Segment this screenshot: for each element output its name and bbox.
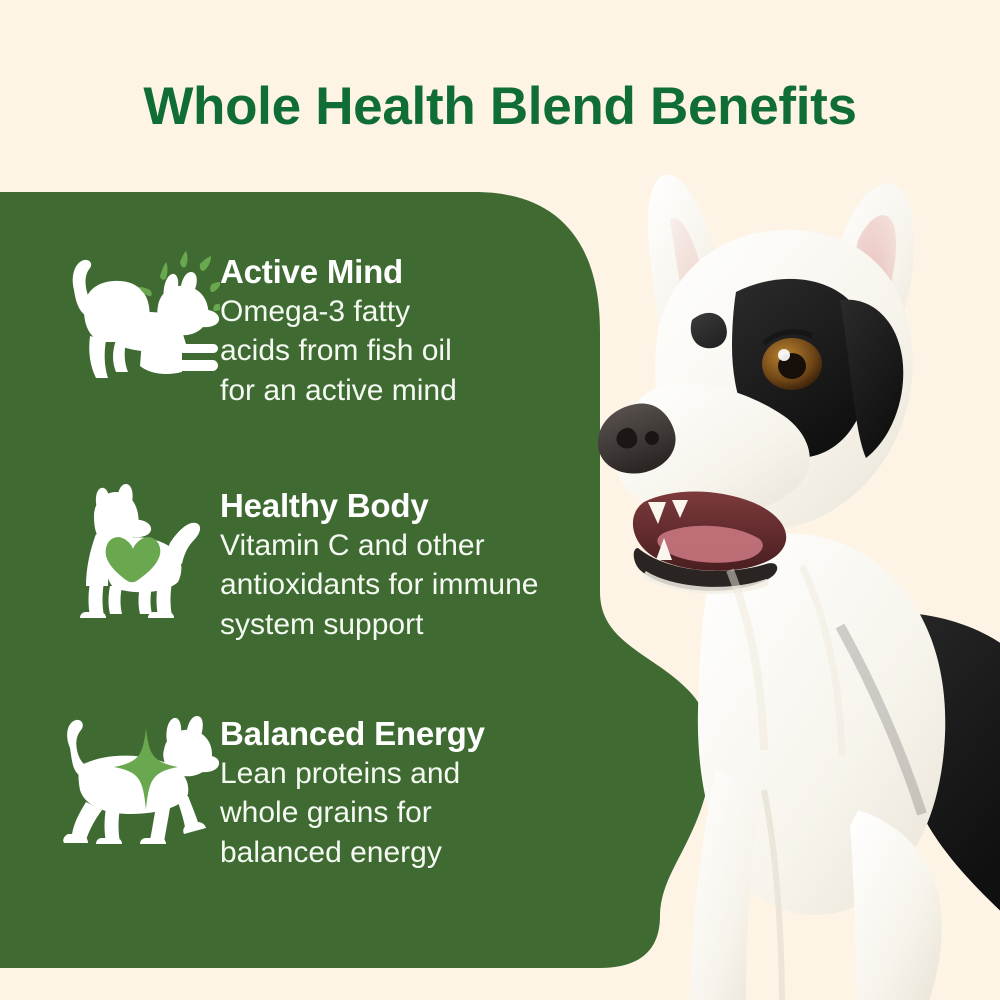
benefit-body-line: for an active mind <box>220 371 457 411</box>
benefit-body: Vitamin C and other antioxidants for imm… <box>220 526 539 645</box>
benefit-body: Lean proteins and whole grains for balan… <box>220 754 485 873</box>
benefit-heading: Active Mind <box>220 254 457 290</box>
dog-eye <box>762 338 822 390</box>
benefit-body-line: system support <box>220 605 539 645</box>
benefit-body-line: antioxidants for immune <box>220 565 539 605</box>
benefit-body-line: whole grains for <box>220 793 485 833</box>
benefits-list: Active Mind Omega-3 fatty acids from fis… <box>0 192 700 968</box>
benefit-heading: Balanced Energy <box>220 716 485 752</box>
benefit-body: Omega-3 fatty acids from fish oil for an… <box>220 292 457 411</box>
dog-standing-heart-icon <box>60 482 220 622</box>
benefit-text-active-mind: Active Mind Omega-3 fatty acids from fis… <box>220 248 457 410</box>
dog-ear-right <box>822 184 914 380</box>
benefit-text-healthy-body: Healthy Body Vitamin C and other antioxi… <box>220 482 539 644</box>
benefit-item-healthy-body[interactable]: Healthy Body Vitamin C and other antioxi… <box>60 482 539 644</box>
benefit-item-active-mind[interactable]: Active Mind Omega-3 fatty acids from fis… <box>60 248 457 410</box>
benefit-text-balanced-energy: Balanced Energy Lean proteins and whole … <box>220 710 485 872</box>
dog-play-bow-alert-icon <box>60 248 220 388</box>
dog-eye-patch <box>732 279 871 458</box>
dog-back-black <box>840 612 1000 920</box>
dog-hind-leg <box>850 810 942 1000</box>
benefit-heading: Healthy Body <box>220 488 539 524</box>
benefit-item-balanced-energy[interactable]: Balanced Energy Lean proteins and whole … <box>60 710 485 872</box>
benefit-body-line: acids from fish oil <box>220 331 457 371</box>
benefits-infographic: Whole Health Blend Benefits <box>0 0 1000 1000</box>
benefit-body-line: Lean proteins and <box>220 754 485 794</box>
dog-ear-inner-right <box>846 215 896 359</box>
page-title: Whole Health Blend Benefits <box>0 78 1000 136</box>
benefit-body-line: Omega-3 fatty <box>220 292 457 332</box>
dog-trotting-sparkle-icon <box>60 710 220 850</box>
benefit-body-line: balanced energy <box>220 833 485 873</box>
benefit-body-line: Vitamin C and other <box>220 526 539 566</box>
